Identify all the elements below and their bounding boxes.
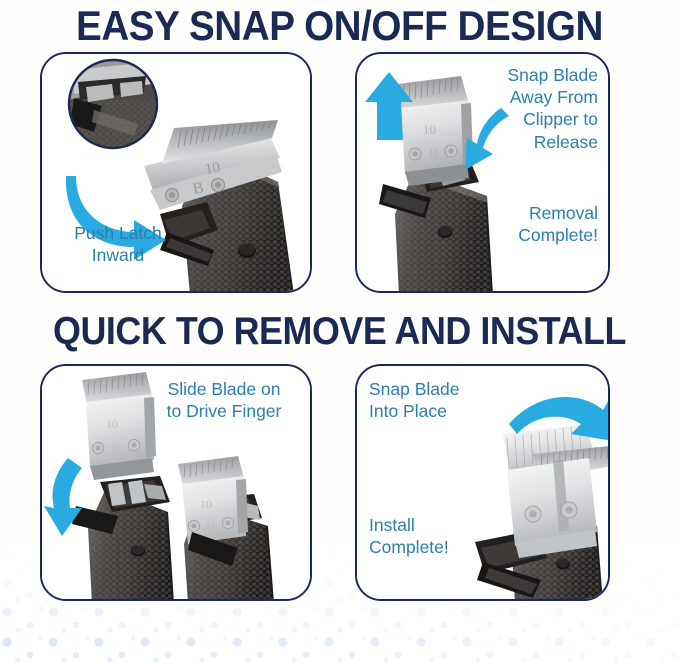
step-panel-2: 10 B Snap Blade Away From Clipper to Rel… xyxy=(355,52,610,293)
page-title-secondary: QUICK TO REMOVE AND INSTALL xyxy=(27,310,652,354)
svg-text:10: 10 xyxy=(423,122,436,137)
infographic-root: EASY SNAP ON/OFF DESIGN xyxy=(0,0,679,662)
panel-1-caption: Push Latch Inward xyxy=(48,222,188,266)
step-panel-4: Snap Blade Into Place Install Complete! xyxy=(355,364,610,601)
svg-text:B: B xyxy=(112,440,121,455)
svg-text:10: 10 xyxy=(200,497,212,511)
step-panel-3: 10 B xyxy=(40,364,312,601)
panel-3-caption: Slide Blade on to Drive Finger xyxy=(144,378,304,422)
panel-2-caption-main: Snap Blade Away From Clipper to Release xyxy=(448,64,598,153)
svg-text:B: B xyxy=(206,518,215,533)
page-title-primary: EASY SNAP ON/OFF DESIGN xyxy=(27,2,652,50)
panel-4-caption-status: Install Complete! xyxy=(369,514,519,558)
svg-text:10: 10 xyxy=(106,417,118,431)
panel-2-caption-status: Removal Complete! xyxy=(448,202,598,246)
panel-4-caption-main: Snap Blade Into Place xyxy=(369,378,519,422)
magnifier-inset xyxy=(69,60,157,148)
step-panel-1: 10 B xyxy=(40,52,312,293)
svg-text:10: 10 xyxy=(204,159,222,178)
svg-text:B: B xyxy=(429,147,438,162)
